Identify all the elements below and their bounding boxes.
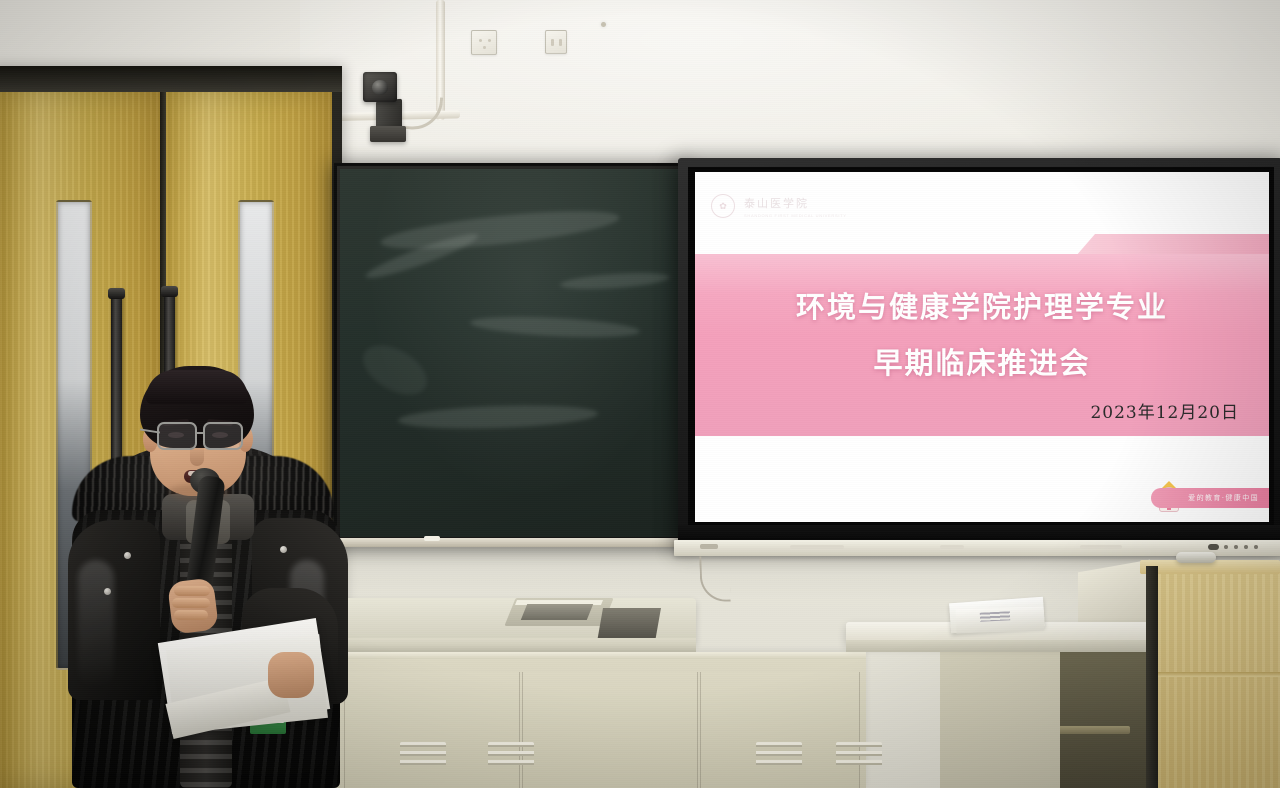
logo-seal-icon: ✿ [711, 194, 735, 218]
wall-socket-left[interactable] [471, 30, 497, 55]
jacket-snap-button [124, 552, 131, 559]
cabinet-handle[interactable] [1176, 552, 1216, 563]
chalk-stick[interactable] [424, 536, 440, 541]
camera-mount-plate [370, 126, 406, 142]
camera-lens-icon [372, 80, 388, 95]
display-power-button[interactable] [1208, 544, 1219, 550]
cabinet-vent-icon [488, 742, 534, 768]
presentation-slide: ✿ 泰山医学院 SHANDONG FIRST MEDICAL UNIVERSIT… [695, 172, 1269, 522]
jacket-snap-button [104, 588, 111, 595]
cabinet-vent-icon [400, 742, 446, 768]
display-control-dot[interactable] [1224, 545, 1228, 549]
classroom-presentation-photo: ✿ 泰山医学院 SHANDONG FIRST MEDICAL UNIVERSIT… [0, 0, 1280, 788]
cabinet-top-edge [326, 652, 866, 659]
finger [172, 598, 210, 608]
jacket-snap-button [280, 546, 287, 553]
desk-side-panel [940, 652, 1060, 788]
rail-marking [1080, 545, 1122, 549]
rail-marking [940, 545, 964, 549]
door-handle-cap-right [161, 286, 178, 297]
display-screen[interactable]: ✿ 泰山医学院 SHANDONG FIRST MEDICAL UNIVERSIT… [695, 172, 1269, 522]
cabinet-door-3[interactable] [700, 672, 860, 788]
slide-footer-badge-label: 爱的教育·健康中国 [1188, 493, 1259, 503]
door-top-rail [0, 66, 342, 92]
nose [190, 444, 204, 466]
glasses-lens-right [203, 422, 243, 450]
slide-footer-badge: 爱的教育·健康中国 [1151, 488, 1269, 508]
wall-screw [601, 22, 606, 27]
display-brand-mark [700, 544, 718, 549]
wood-panel-seam [1158, 672, 1280, 677]
wall-switch-right[interactable] [545, 30, 567, 54]
glasses-bridge [196, 432, 205, 434]
slide-date: 2023年12月20日 [1090, 398, 1239, 423]
podium-recess-inner [521, 604, 593, 620]
logo-name-cn: 泰山医学院 [744, 195, 847, 211]
logo-text-block: 泰山医学院 SHANDONG FIRST MEDICAL UNIVERSITY [744, 195, 847, 218]
slide-title-line1: 环境与健康学院护理学专业 [695, 284, 1269, 326]
desk-paper-print [980, 611, 1010, 622]
wood-wall-panel [1158, 566, 1280, 788]
display-control-dot[interactable] [1254, 545, 1258, 549]
cabinet-vent-icon [756, 742, 802, 768]
cabinet-door-1[interactable] [344, 672, 520, 788]
cabinet-door-2[interactable] [522, 672, 698, 788]
logo-name-en: SHANDONG FIRST MEDICAL UNIVERSITY [744, 213, 847, 218]
desk-vertical-post [1146, 566, 1158, 788]
display-control-dot[interactable] [1234, 545, 1238, 549]
slide-logo: ✿ 泰山医学院 SHANDONG FIRST MEDICAL UNIVERSIT… [711, 194, 847, 218]
chalk-tray [336, 538, 688, 547]
presenter [28, 360, 358, 788]
display-control-dot[interactable] [1244, 545, 1248, 549]
cabinet-vent-icon [836, 742, 882, 768]
podium-opening [597, 608, 661, 642]
finger [174, 610, 208, 620]
hair-fringe [146, 370, 248, 404]
sleeve-highlight-left [78, 560, 114, 690]
hand-holding-papers [268, 652, 314, 698]
door-handle-cap-left [108, 288, 125, 299]
rail-marking [790, 545, 844, 549]
slide-title-line2: 早期临床推进会 [695, 340, 1269, 382]
finger [174, 586, 210, 596]
